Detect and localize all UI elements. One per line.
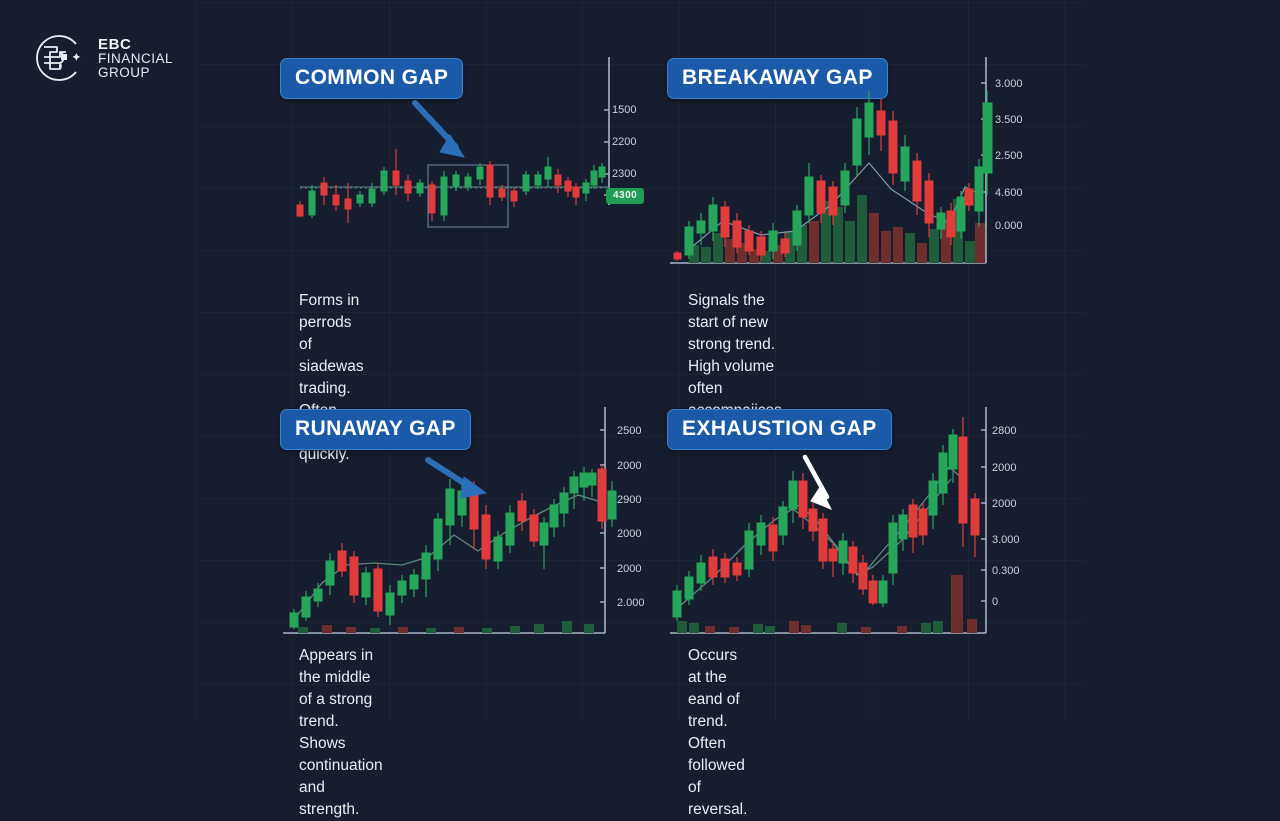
- arrow-icon: [415, 103, 464, 157]
- arrow-icon: [428, 460, 486, 498]
- brand-name-line1: EBC: [98, 37, 173, 52]
- chart-runaway-gap: [278, 405, 613, 635]
- chart-breakaway-gap: [665, 55, 995, 270]
- arrow-icon: [805, 457, 831, 509]
- ebc-monogram-icon: [30, 30, 86, 86]
- brand-logo: EBC FINANCIAL GROUP: [30, 30, 173, 86]
- last-price-badge: 4300: [606, 188, 644, 204]
- chart-common-gap: [280, 55, 620, 260]
- chart-exhaustion-gap: [665, 405, 995, 635]
- brand-name-line3: GROUP: [98, 66, 173, 80]
- caption-exhaustion-gap: Occurs at the eand of trend. Often follo…: [688, 645, 747, 821]
- infographic-canvas: EBC FINANCIAL GROUP COMMON GAP: [0, 0, 1280, 720]
- caption-runaway-gap: Appears in the middle of a strong trend.…: [299, 645, 383, 821]
- brand-name-line2: FINANCIAL: [98, 52, 173, 66]
